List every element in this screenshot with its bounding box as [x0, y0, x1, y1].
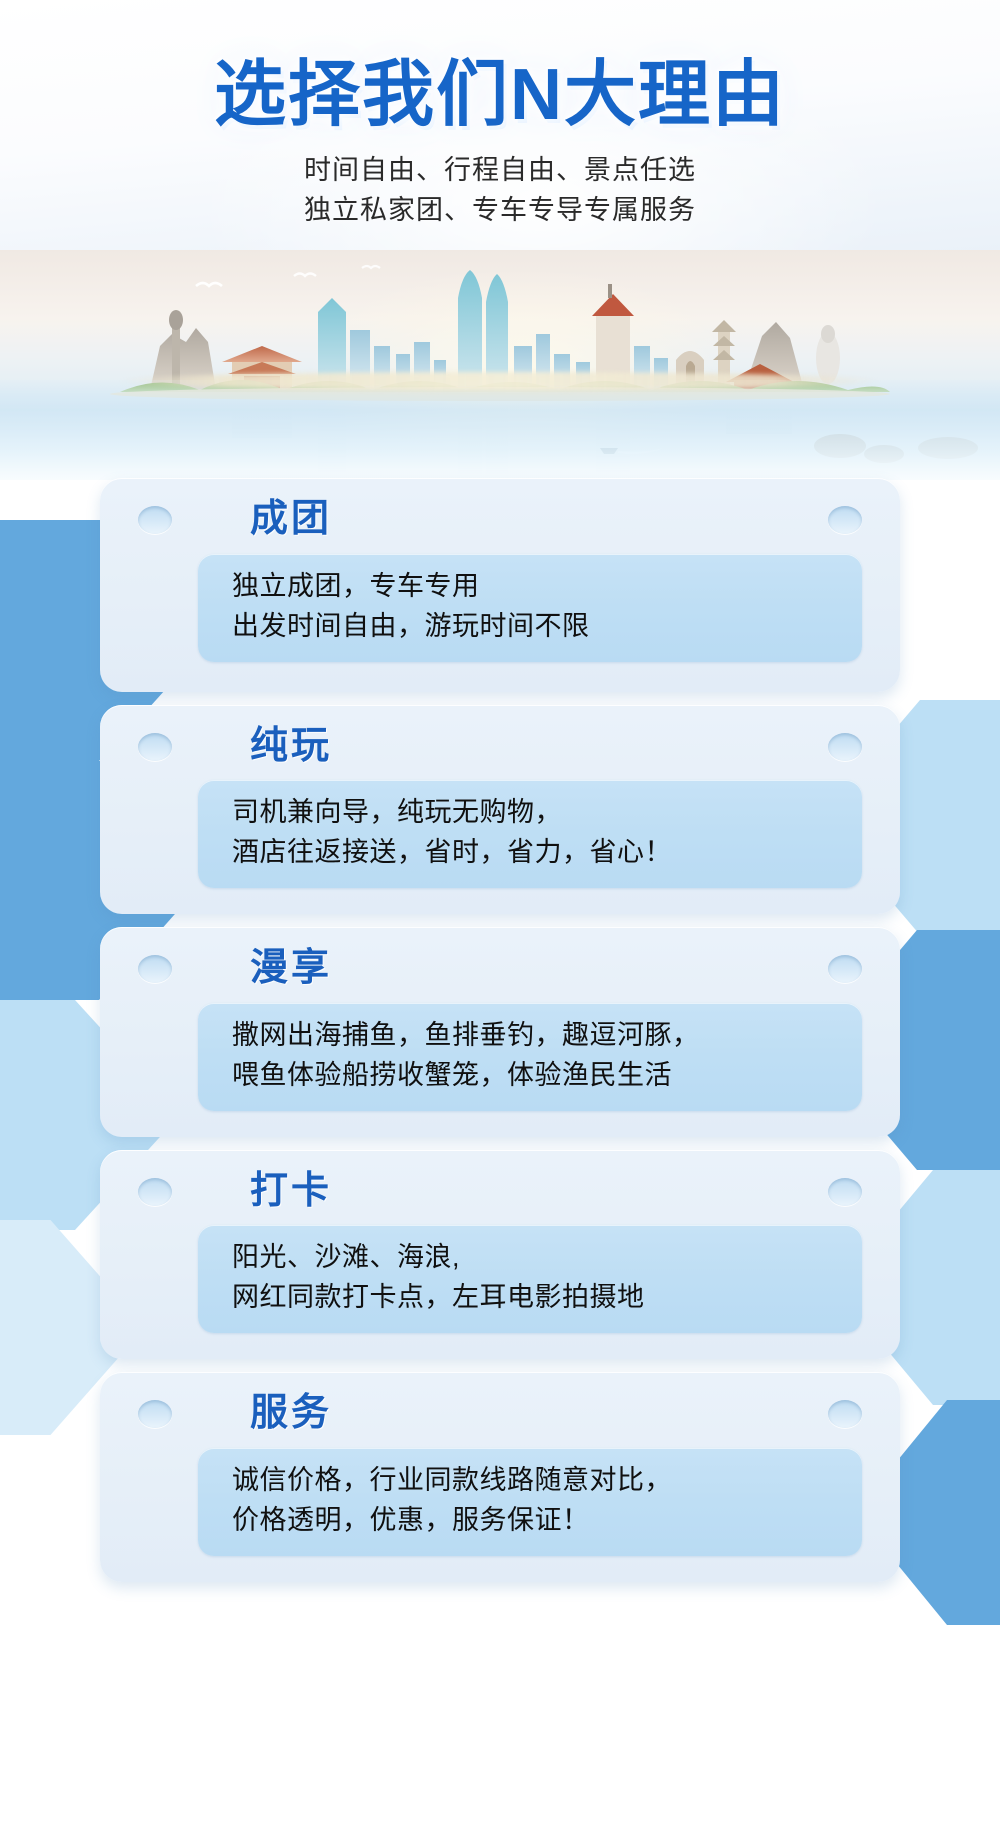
reason-line: 撒网出海捕鱼，鱼排垂钓，趣逗河豚，	[232, 1016, 836, 1056]
punch-hole-icon	[828, 733, 862, 761]
reason-card-body: 诚信价格，行业同款线路随意对比， 价格透明，优惠，服务保证！	[198, 1448, 862, 1556]
punch-hole-icon	[138, 1400, 172, 1428]
water-surface	[0, 380, 1000, 480]
reason-line: 司机兼向导，纯玩无购物，	[232, 793, 836, 833]
reason-card[interactable]: 服务 诚信价格，行业同款线路随意对比， 价格透明，优惠，服务保证！	[100, 1372, 900, 1582]
reason-card-body: 独立成团，专车专用 出发时间自由，游玩时间不限	[198, 554, 862, 662]
subtitle-line-2: 独立私家团、专车专导专属服务	[0, 190, 1000, 231]
reason-card-list: 成团 独立成团，专车专用 出发时间自由，游玩时间不限 纯玩 司机兼向导，纯玩无购…	[0, 478, 1000, 1595]
subtitle-line-1: 时间自由、行程自由、景点任选	[0, 150, 1000, 191]
punch-hole-icon	[138, 733, 172, 761]
hero-scenery-image	[0, 250, 1000, 480]
shoreline	[120, 372, 880, 390]
poster-header: 选择我们N大理由 时间自由、行程自由、景点任选 独立私家团、专车专导专属服务	[0, 0, 1000, 231]
promo-poster: 选择我们N大理由 时间自由、行程自由、景点任选 独立私家团、专车专导专属服务 成…	[0, 0, 1000, 1837]
punch-hole-icon	[828, 955, 862, 983]
reason-line: 诚信价格，行业同款线路随意对比，	[232, 1461, 836, 1501]
punch-hole-icon	[828, 506, 862, 534]
reason-card-title: 服务	[250, 1392, 866, 1436]
punch-hole-icon	[138, 1178, 172, 1206]
reason-card[interactable]: 打卡 阳光、沙滩、海浪, 网红同款打卡点，左耳电影拍摄地	[100, 1150, 900, 1360]
reason-line: 喂鱼体验船捞收蟹笼，体验渔民生活	[232, 1056, 836, 1096]
reason-card-body: 司机兼向导，纯玩无购物， 酒店往返接送，省时，省力，省心！	[198, 780, 862, 888]
page-title: 选择我们N大理由	[0, 0, 1000, 134]
reason-card-title: 纯玩	[250, 725, 866, 769]
reason-line: 网红同款打卡点，左耳电影拍摄地	[232, 1278, 836, 1318]
reason-line: 出发时间自由，游玩时间不限	[232, 607, 836, 647]
punch-hole-icon	[138, 955, 172, 983]
reason-line: 独立成团，专车专用	[232, 567, 836, 607]
reason-card[interactable]: 纯玩 司机兼向导，纯玩无购物， 酒店往返接送，省时，省力，省心！	[100, 705, 900, 915]
page-subtitle: 时间自由、行程自由、景点任选 独立私家团、专车专导专属服务	[0, 150, 1000, 231]
reason-card-title: 成团	[250, 498, 866, 542]
reason-card-title: 打卡	[250, 1170, 866, 1214]
reason-line: 酒店往返接送，省时，省力，省心！	[232, 833, 836, 873]
reason-card-body: 阳光、沙滩、海浪, 网红同款打卡点，左耳电影拍摄地	[198, 1225, 862, 1333]
reason-card-title: 漫享	[250, 947, 866, 991]
reason-line: 阳光、沙滩、海浪,	[232, 1238, 836, 1278]
punch-hole-icon	[138, 506, 172, 534]
reason-line: 价格透明，优惠，服务保证！	[232, 1501, 836, 1541]
reason-card[interactable]: 漫享 撒网出海捕鱼，鱼排垂钓，趣逗河豚， 喂鱼体验船捞收蟹笼，体验渔民生活	[100, 927, 900, 1137]
reason-card-body: 撒网出海捕鱼，鱼排垂钓，趣逗河豚， 喂鱼体验船捞收蟹笼，体验渔民生活	[198, 1003, 862, 1111]
punch-hole-icon	[828, 1178, 862, 1206]
reason-card[interactable]: 成团 独立成团，专车专用 出发时间自由，游玩时间不限	[100, 478, 900, 692]
